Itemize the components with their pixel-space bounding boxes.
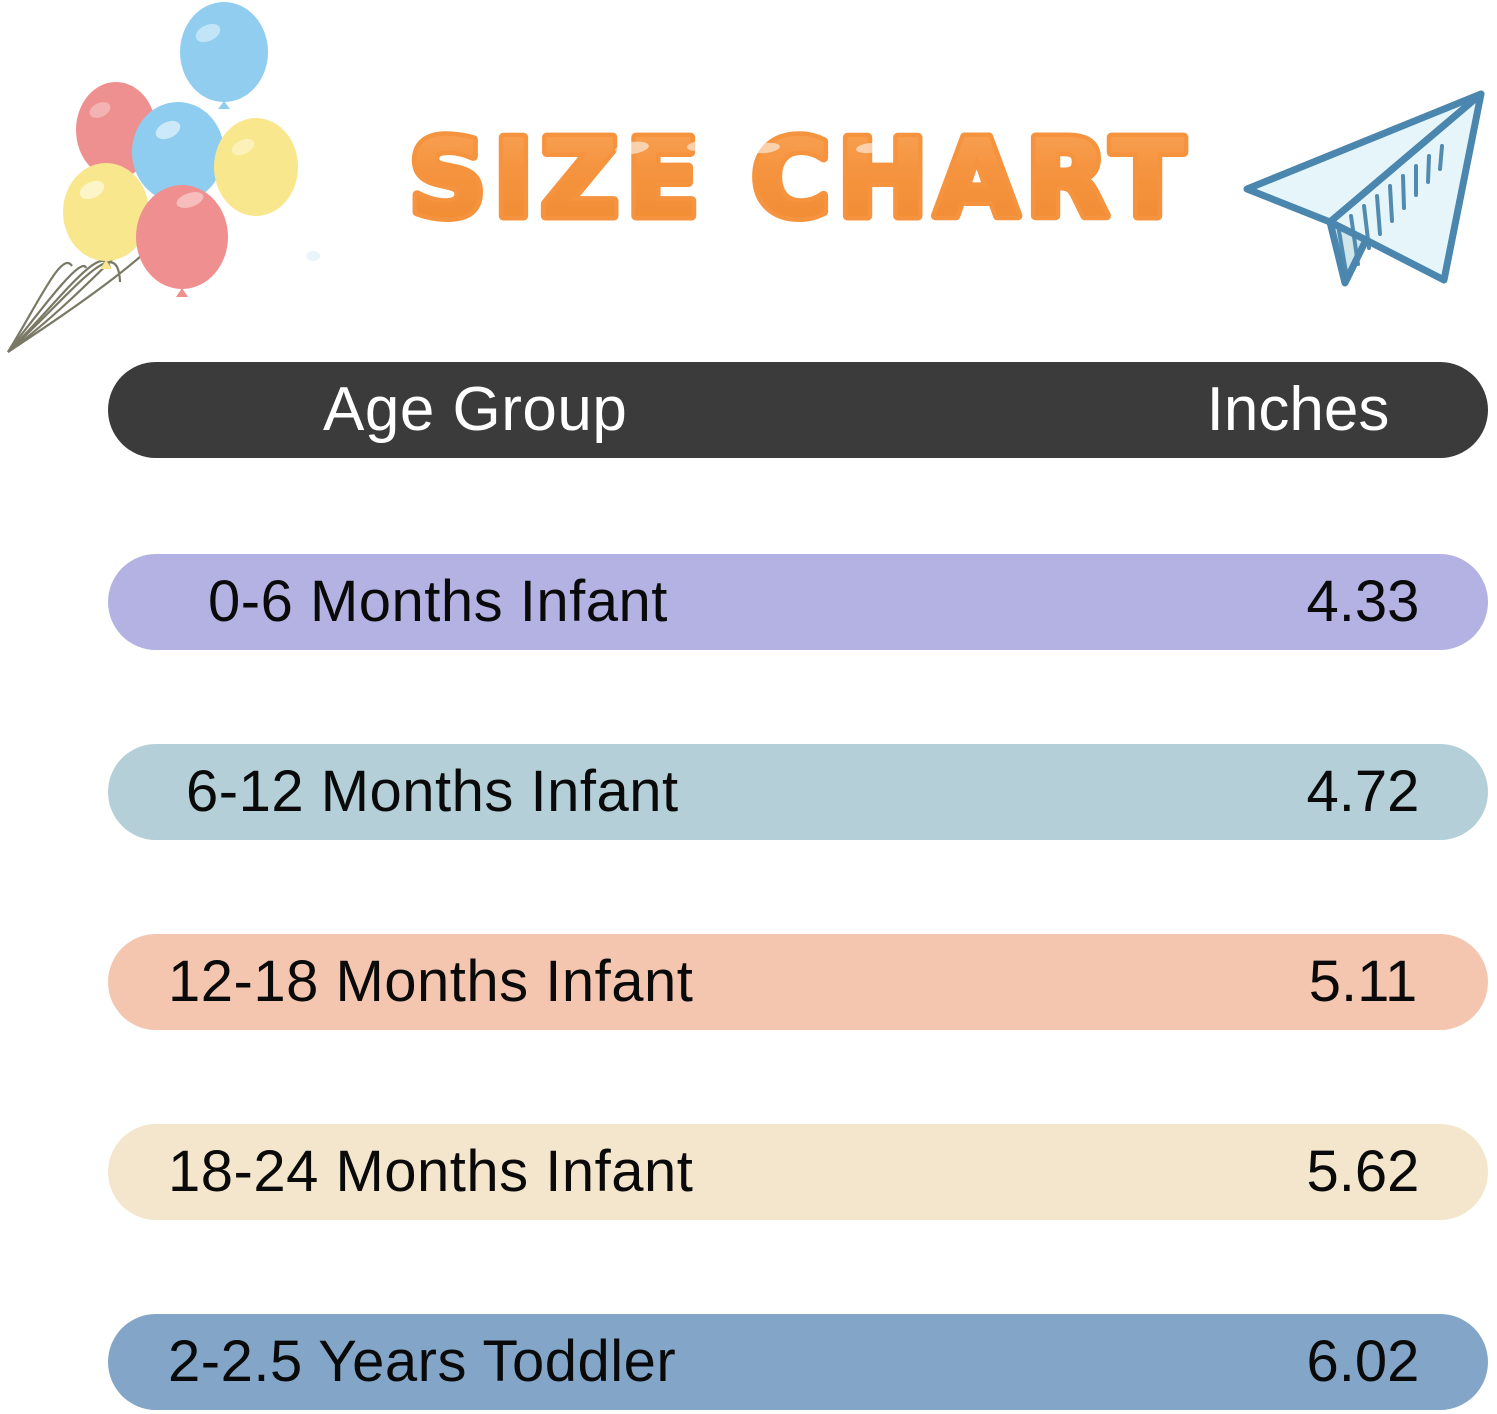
row-gap (108, 840, 1488, 934)
size-chart-table: Age Group Inches 0-6 Months Infant 4.33 … (108, 362, 1488, 1410)
balloons-icon (0, 0, 360, 360)
page-title: SIZE CHART (400, 108, 1200, 253)
table-row[interactable]: 6-12 Months Infant 4.72 (108, 744, 1488, 840)
cell-age-group: 2-2.5 Years Toddler (168, 1333, 676, 1391)
column-header-age-group: Age Group (323, 379, 627, 441)
table-row[interactable]: 2-2.5 Years Toddler 6.02 (108, 1314, 1488, 1410)
column-header-inches: Inches (1118, 379, 1478, 441)
table-row[interactable]: 0-6 Months Infant 4.33 (108, 554, 1488, 650)
cell-inches: 6.02 (1163, 1333, 1497, 1391)
page-title-text: SIZE CHART (409, 117, 1192, 242)
cell-inches: 4.33 (1163, 573, 1497, 631)
table-row[interactable]: 12-18 Months Infant 5.11 (108, 934, 1488, 1030)
cell-age-group: 6-12 Months Infant (186, 763, 679, 821)
paper-airplane-icon (1228, 78, 1497, 290)
cell-age-group: 12-18 Months Infant (168, 953, 693, 1011)
cell-inches: 5.62 (1163, 1143, 1497, 1201)
table-row[interactable]: 18-24 Months Infant 5.62 (108, 1124, 1488, 1220)
cell-age-group: 0-6 Months Infant (208, 573, 668, 631)
cell-inches: 5.11 (1163, 953, 1497, 1011)
row-gap (108, 650, 1488, 744)
row-gap (108, 1220, 1488, 1314)
cell-age-group: 18-24 Months Infant (168, 1143, 693, 1201)
table-header-row: Age Group Inches (108, 362, 1488, 458)
cell-inches: 4.72 (1163, 763, 1497, 821)
row-gap (108, 458, 1488, 554)
row-gap (108, 1030, 1488, 1124)
